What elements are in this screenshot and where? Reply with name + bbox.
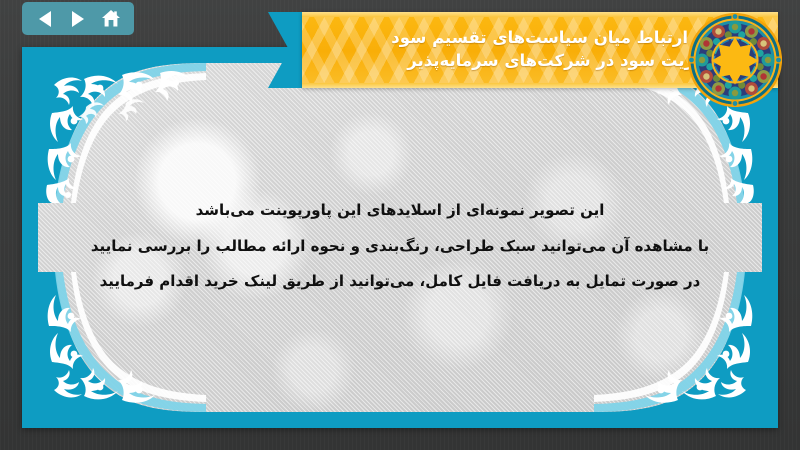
- islamic-medallion-ornament-icon: [685, 10, 785, 110]
- next-slide-button[interactable]: [67, 8, 89, 30]
- arabesque-corner-ornament-icon: [38, 63, 206, 203]
- body-line-2: با مشاهده آن می‌توانید سبک طراحی، رنگ‌بن…: [78, 229, 722, 265]
- triangle-left-icon: [37, 10, 53, 28]
- body-line-1: این تصویر نمونه‌ای از اسلایدهای این پاور…: [78, 193, 722, 229]
- slide-navigation-bar[interactable]: [22, 2, 134, 35]
- home-button[interactable]: [100, 8, 122, 30]
- presentation-slide: این تصویر نمونه‌ای از اسلایدهای این پاور…: [0, 0, 800, 450]
- content-frame: این تصویر نمونه‌ای از اسلایدهای این پاور…: [22, 47, 778, 428]
- previous-slide-button[interactable]: [34, 8, 56, 30]
- slide-body-text: این تصویر نمونه‌ای از اسلایدهای این پاور…: [78, 193, 722, 300]
- triangle-right-icon: [70, 10, 86, 28]
- body-line-3: در صورت تمایل به دریافت فایل کامل، می‌تو…: [78, 264, 722, 300]
- content-panel: این تصویر نمونه‌ای از اسلایدهای این پاور…: [38, 63, 762, 412]
- home-icon: [101, 9, 121, 28]
